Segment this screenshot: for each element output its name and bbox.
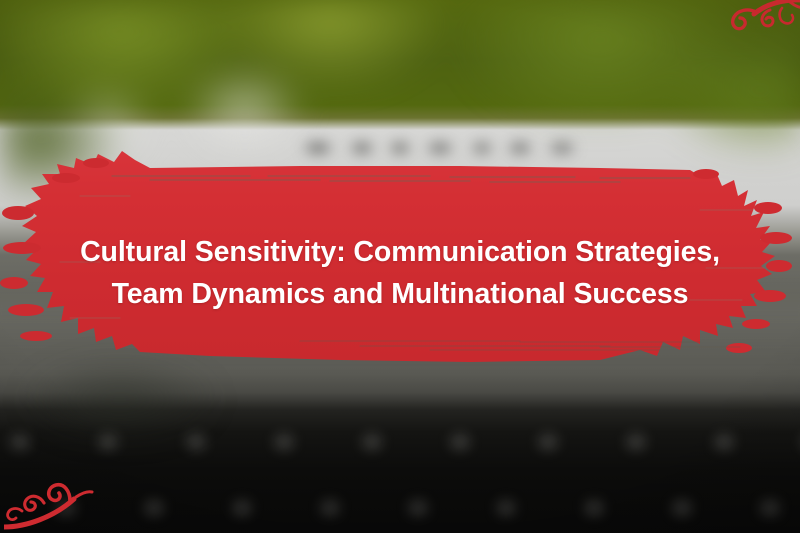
- page-title-line-1: Cultural Sensitivity: Communication Stra…: [0, 231, 800, 273]
- hero-banner-canvas: Cultural Sensitivity: Communication Stra…: [0, 0, 800, 533]
- page-title: Cultural Sensitivity: Communication Stra…: [0, 231, 800, 315]
- typewriter-brand-text-blur: [300, 128, 600, 168]
- typewriter-keys-blur: [0, 420, 800, 533]
- flourish-swirl-top-right-icon: [716, 0, 800, 52]
- page-title-line-2: Team Dynamics and Multinational Success: [0, 273, 800, 315]
